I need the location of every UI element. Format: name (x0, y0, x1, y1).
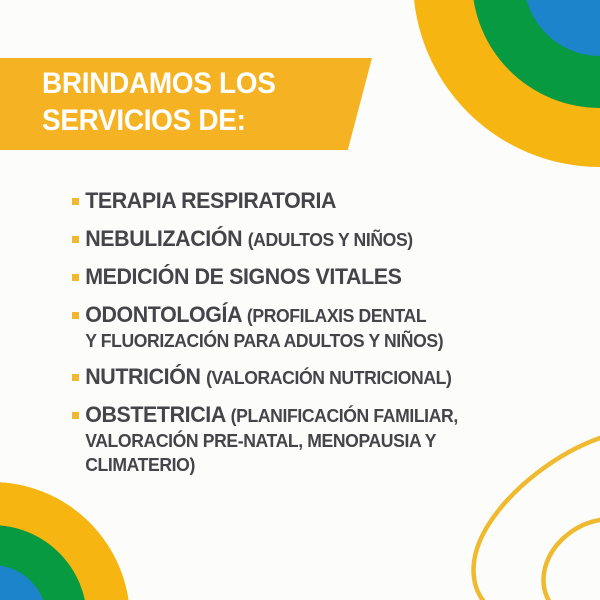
bottom-left-ring-blue-icon (0, 565, 47, 600)
header-banner: BRINDAMOS LOS SERVICIOS DE: (0, 58, 372, 150)
service-detail: (ADULTOS Y NIÑOS) (248, 229, 413, 250)
service-text: TERAPIA RESPIRATORIA (70, 188, 545, 215)
swoosh-inner-icon (544, 520, 600, 600)
bottom-left-ring-green-icon (0, 525, 87, 600)
service-item-nutricion: NUTRICIÓN (VALORACIÓN NUTRICIONAL) (70, 364, 570, 391)
service-title: NUTRICIÓN (85, 364, 206, 389)
service-item-nebulizacion: NEBULIZACIÓN (ADULTOS Y NIÑOS) (70, 226, 570, 253)
service-item-obstetricia: OBSTETRICIA (PLANIFICACIÓN FAMILIAR,VALO… (70, 402, 570, 477)
service-detail: (VALORACIÓN NUTRICIONAL) (206, 367, 451, 388)
service-item-odontologia: ODONTOLOGÍA (PROFILAXIS DENTALY FLUORIZA… (70, 302, 570, 353)
service-detail-cont: Y FLUORIZACIÓN PARA ADULTOS Y NIÑOS) (85, 329, 545, 353)
service-title: OBSTETRICIA (85, 402, 230, 427)
service-text: OBSTETRICIA (PLANIFICACIÓN FAMILIAR,VALO… (70, 402, 545, 477)
service-text: MEDICIÓN DE SIGNOS VITALES (70, 264, 545, 291)
service-title: NEBULIZACIÓN (85, 226, 247, 251)
header-line-2: SERVICIOS DE: (42, 102, 276, 139)
header-banner-text: BRINDAMOS LOS SERVICIOS DE: (42, 65, 276, 139)
bottom-left-rings-group (0, 482, 130, 600)
service-text: NEBULIZACIÓN (ADULTOS Y NIÑOS) (70, 226, 545, 253)
top-right-rings-group (413, 0, 600, 167)
poster-canvas: BRINDAMOS LOS SERVICIOS DE: TERAPIA RESP… (0, 0, 600, 600)
service-text: NUTRICIÓN (VALORACIÓN NUTRICIONAL) (70, 364, 545, 391)
header-line-1: BRINDAMOS LOS (42, 65, 276, 102)
services-list: TERAPIA RESPIRATORIA NEBULIZACIÓN (ADULT… (70, 188, 570, 488)
service-text: ODONTOLOGÍA (PROFILAXIS DENTALY FLUORIZA… (70, 302, 545, 353)
service-item-medicion-signos-vitales: MEDICIÓN DE SIGNOS VITALES (70, 264, 570, 291)
top-right-ring-blue-icon (524, 0, 600, 56)
service-detail: (PROFILAXIS DENTAL (247, 305, 426, 326)
service-title: MEDICIÓN DE SIGNOS VITALES (85, 264, 401, 289)
service-title: TERAPIA RESPIRATORIA (85, 188, 336, 213)
service-detail-cont: VALORACIÓN PRE-NATAL, MENOPAUSIA Y CLIMA… (85, 429, 545, 477)
bottom-left-ring-yellow-icon (0, 482, 130, 600)
top-right-ring-yellow-icon (413, 0, 600, 167)
service-title: ODONTOLOGÍA (85, 302, 247, 327)
service-item-terapia-respiratoria: TERAPIA RESPIRATORIA (70, 188, 570, 215)
top-right-ring-green-icon (472, 0, 600, 108)
service-detail: (PLANIFICACIÓN FAMILIAR, (231, 405, 458, 426)
